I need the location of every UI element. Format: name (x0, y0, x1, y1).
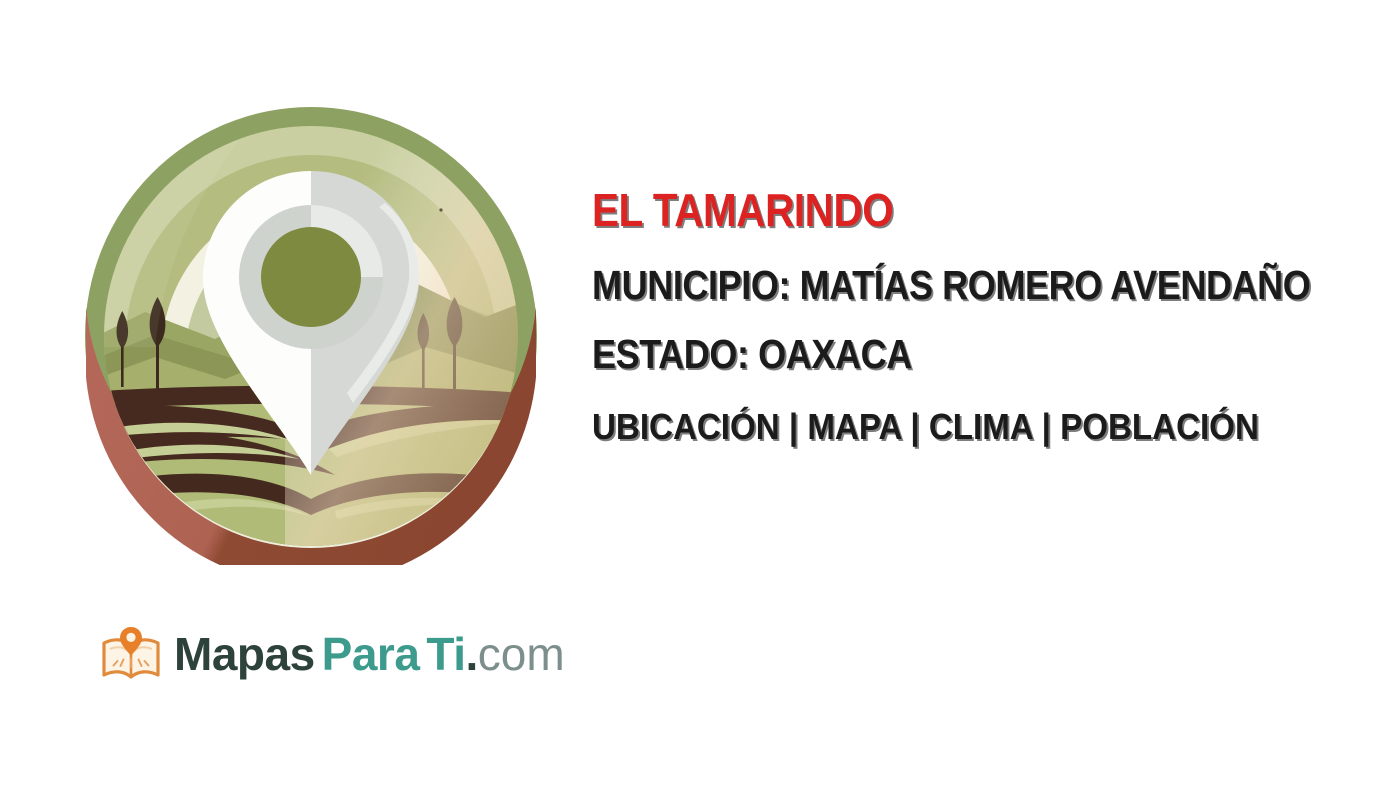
badge-illustration (85, 107, 537, 565)
speck (439, 208, 442, 211)
municipio-line: MUNICIPIO: MATÍAS ROMERO AVENDAÑO (592, 258, 1303, 312)
section-nav-line[interactable]: UBICACIÓN | MAPA | CLIMA | POBLACIÓN (592, 403, 1335, 451)
map-pin-landscape-badge (85, 107, 537, 565)
brand-word-mapas: Mapas (174, 631, 315, 677)
brand-word-com: com (478, 631, 565, 677)
pin-center (261, 227, 361, 327)
page-title: EL TAMARINDO (592, 184, 1303, 236)
brand-dot: . (465, 631, 477, 677)
promo-card: MapasParaTi.com EL TAMARINDO MUNICIPIO: … (0, 0, 1400, 786)
brand-wordmark: MapasParaTi.com (174, 631, 565, 677)
open-book-pin-icon (100, 623, 162, 685)
brand-word-para: Para (322, 631, 420, 677)
brand-logo[interactable]: MapasParaTi.com (100, 618, 565, 690)
brand-word-ti: Ti (426, 631, 465, 677)
estado-line: ESTADO: OAXACA (592, 327, 1303, 381)
info-text-block: EL TAMARINDO MUNICIPIO: MATÍAS ROMERO AV… (592, 180, 1400, 460)
